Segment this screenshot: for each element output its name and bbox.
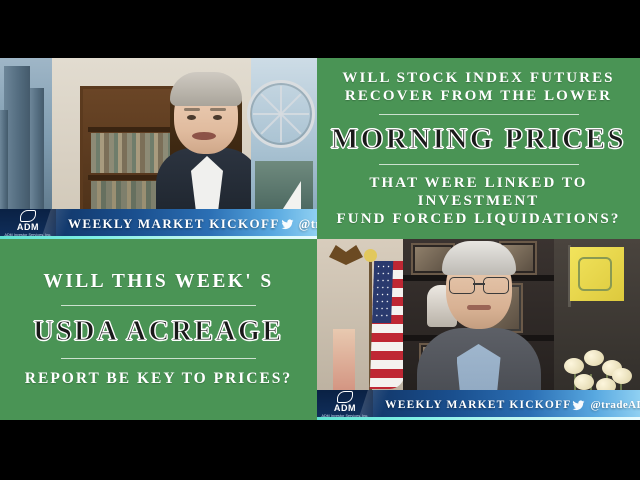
video-frame: ADM ADM Investor Services, Inc. WEEKLY M… [0, 0, 640, 480]
eagle-ornament-icon [329, 245, 363, 265]
eye [213, 115, 222, 120]
lower-third-banner-left: ADM ADM Investor Services, Inc. WEEKLY M… [0, 209, 317, 239]
building-icon [0, 110, 8, 216]
speaker-video-right: ADM ADM Investor Services, Inc. WEEKLY M… [317, 239, 640, 420]
headline-panel-stocks: WILL STOCK INDEX FUTURES RECOVER FROM TH… [317, 58, 640, 239]
panel-intro-lines: WILL STOCK INDEX FUTURES RECOVER FROM TH… [342, 69, 614, 106]
mouth [192, 132, 216, 140]
headline-panel-usda: WILL THIS WEEK' S USDA ACREAGE REPORT BE… [0, 239, 317, 420]
headline-line-3: THAT WERE LINKED TO INVESTMENT [317, 174, 640, 211]
lower-third-banner-right: ADM ADM Investor Services, Inc. WEEKLY M… [317, 390, 640, 420]
video-content-area: ADM ADM Investor Services, Inc. WEEKLY M… [0, 58, 640, 420]
adm-leaf-icon [20, 210, 36, 222]
eyeglasses-icon [449, 277, 509, 292]
flag-canton [372, 261, 393, 323]
quadrant-top-right-text: WILL STOCK INDEX FUTURES RECOVER FROM TH… [317, 58, 640, 239]
usda-headline-main: USDA ACREAGE [33, 317, 283, 346]
divider-top [61, 305, 256, 306]
adm-leaf-icon [337, 391, 353, 403]
golf-flag-icon [570, 247, 624, 301]
divider-bottom [61, 358, 256, 359]
eyebrow [210, 108, 226, 111]
banner-title: WEEKLY MARKET KICKOFF [385, 399, 571, 411]
headline-line-4: FUND FORCED LIQUIDATIONS? [317, 210, 640, 228]
banner-title: WEEKLY MARKET KICKOFF [68, 216, 280, 232]
twitter-handle: @tradeADMIS [590, 399, 640, 411]
twitter-bird-icon [280, 218, 295, 231]
usda-line-2: REPORT BE KEY TO PRICES? [25, 370, 292, 389]
headline-line-1: WILL STOCK INDEX FUTURES [342, 69, 614, 87]
headline-line-2: RECOVER FROM THE LOWER [342, 87, 614, 105]
panel-outro-lines: THAT WERE LINKED TO INVESTMENT FUND FORC… [317, 174, 640, 229]
banner-social: @tradeADMIS [571, 399, 640, 412]
usda-line-1: WILL THIS WEEK' S [43, 270, 273, 294]
divider-bottom [379, 164, 579, 165]
eyebrow [184, 108, 200, 111]
twitter-handle: @tradeADMIS [299, 217, 317, 232]
quadrant-bottom-left-text: WILL THIS WEEK' S USDA ACREAGE REPORT BE… [0, 239, 317, 420]
headline-main: MORNING PRICES [331, 124, 626, 154]
banner-social: @tradeADMIS [280, 217, 317, 232]
speaker-hair [170, 72, 242, 106]
building-icon [30, 88, 44, 216]
ferris-wheel-icon [247, 80, 315, 148]
adm-logo-text: ADM [334, 404, 356, 413]
twitter-bird-icon [571, 399, 586, 412]
speaker-video-left: ADM ADM Investor Services, Inc. WEEKLY M… [0, 58, 317, 239]
divider-top [379, 114, 579, 115]
speaker2-hair [442, 241, 516, 275]
adm-logo-text: ADM [17, 223, 39, 232]
eye [187, 115, 196, 120]
quadrant-bottom-right-video[interactable]: ADM ADM Investor Services, Inc. WEEKLY M… [317, 239, 640, 420]
speaker2-mouth [467, 305, 491, 310]
quadrant-top-left-video[interactable]: ADM ADM Investor Services, Inc. WEEKLY M… [0, 58, 317, 239]
